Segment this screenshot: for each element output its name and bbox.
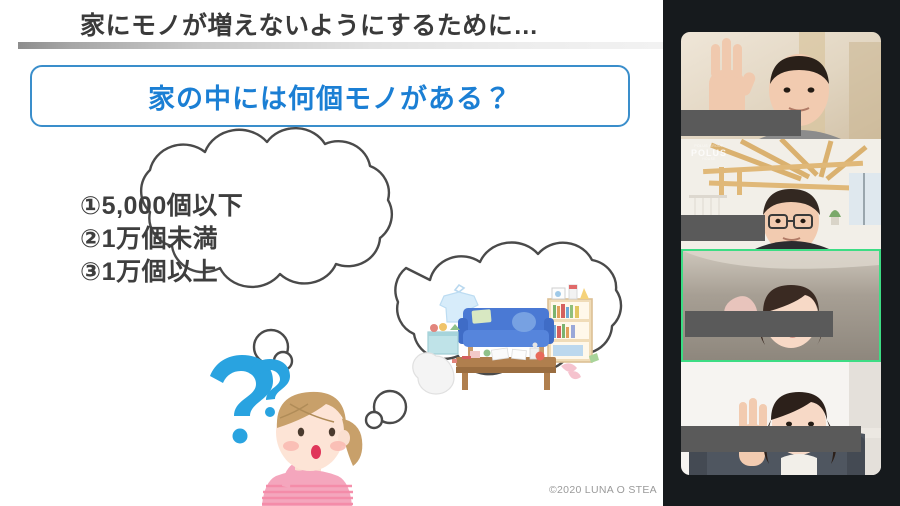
title-divider: [18, 42, 663, 49]
hanging-shirt-icon: [440, 285, 478, 322]
polus-watermark-superscript: POLUS GROUP: [691, 145, 727, 149]
right-thought-bubble: [366, 243, 621, 428]
video-participant-panel: POLUS GROUP POLUS HOUSE: [663, 0, 900, 506]
video-tile-2[interactable]: POLUS GROUP POLUS HOUSE: [681, 139, 881, 249]
slide-title: 家にモノが増えないようにするために…: [80, 6, 539, 42]
polus-watermark: POLUS GROUP POLUS HOUSE: [691, 145, 727, 161]
copyright-notice: ©2020 LUNA O STEA: [549, 484, 657, 496]
video-feed-4: [681, 362, 881, 475]
slide-area: 家にモノが増えないようにするために… 家の中には何個モノがある？ .bstrok…: [0, 0, 663, 506]
participant-name-redaction-4: [681, 426, 861, 452]
beanbag-icon: [413, 353, 454, 394]
answer-option-3: ③1万個以上: [80, 256, 340, 289]
puzzled-woman-character: [262, 392, 362, 506]
question-text: 家の中には何個モノがある？: [148, 77, 512, 116]
sofa-icon: [458, 308, 554, 356]
question-mark-icons: [210, 355, 290, 444]
answer-option-1: ①5,000個以下: [80, 190, 340, 223]
polus-watermark-subscript: HOUSE: [691, 158, 727, 161]
answer-option-2: ②1万個未満: [80, 223, 340, 256]
bookshelf-icon: [548, 285, 592, 362]
participant-name-redaction-3: [685, 311, 833, 337]
coffee-table-icon: [456, 348, 556, 390]
answer-options-list: ①5,000個以下 ②1万個未満 ③1万個以上: [80, 190, 340, 289]
floor-clutter: [533, 343, 600, 380]
video-tile-3-active-speaker[interactable]: [681, 249, 881, 362]
question-box: 家の中には何個モノがある？: [30, 65, 630, 127]
video-feed-3: [683, 251, 879, 360]
participant-name-redaction-2: [681, 215, 765, 241]
question-mark-large-icon: [210, 355, 273, 444]
question-mark-small-icon: [249, 359, 290, 417]
participant-name-redaction-1: [681, 110, 801, 136]
messy-room-illustration: [413, 285, 599, 394]
video-tile-1[interactable]: [681, 32, 881, 139]
video-tile-4[interactable]: [681, 362, 881, 475]
presentation-screen: 家にモノが増えないようにするために… 家の中には何個モノがある？ .bstrok…: [0, 0, 900, 506]
toy-box-icon: [428, 323, 460, 366]
